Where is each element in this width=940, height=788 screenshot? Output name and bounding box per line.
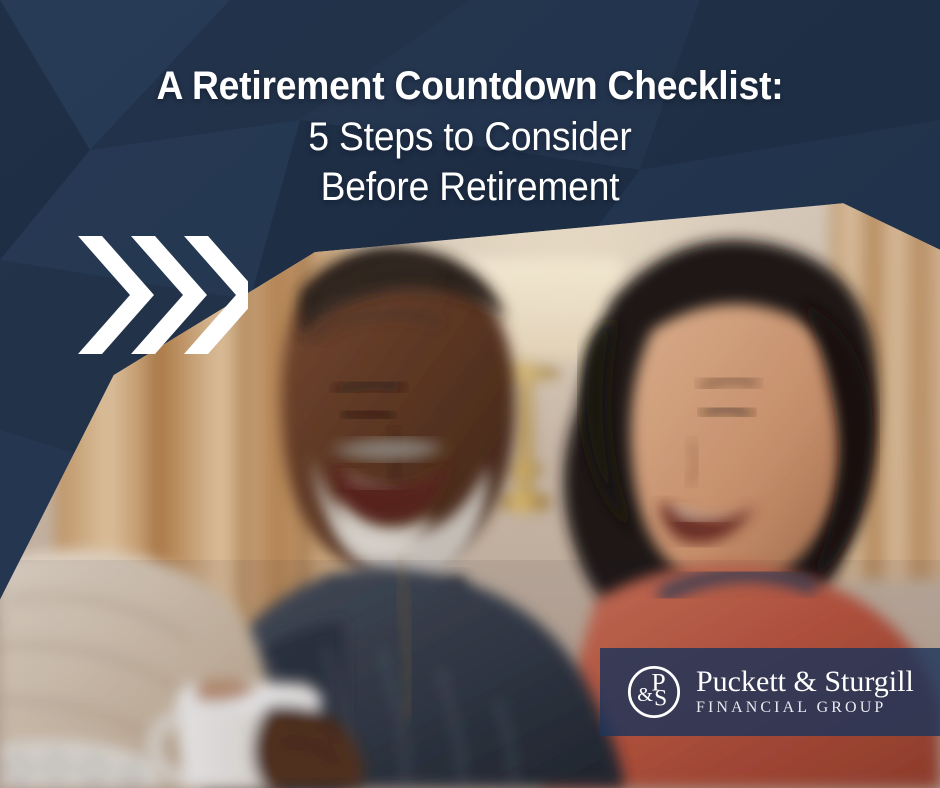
- svg-text:&: &: [637, 684, 653, 706]
- logo-company-name: Puckett & Sturgill: [696, 667, 914, 697]
- headline-line-1: A Retirement Countdown Checklist:: [70, 63, 870, 109]
- svg-text:S: S: [654, 685, 667, 711]
- logo-company-subtitle: FINANCIAL GROUP: [696, 700, 914, 717]
- headline-line-3: Before Retirement: [70, 164, 870, 210]
- headline: A Retirement Countdown Checklist: 5 Step…: [0, 63, 940, 210]
- triple-chevron-right-icon: [78, 236, 248, 354]
- promo-graphic: A Retirement Countdown Checklist: 5 Step…: [0, 0, 940, 788]
- headline-line-2: 5 Steps to Consider: [70, 114, 870, 160]
- ps-circle-monogram-icon: P & S: [626, 664, 682, 720]
- logo-text: Puckett & Sturgill FINANCIAL GROUP: [696, 667, 914, 717]
- logo-band: P & S Puckett & Sturgill FINANCIAL GROUP: [600, 648, 940, 736]
